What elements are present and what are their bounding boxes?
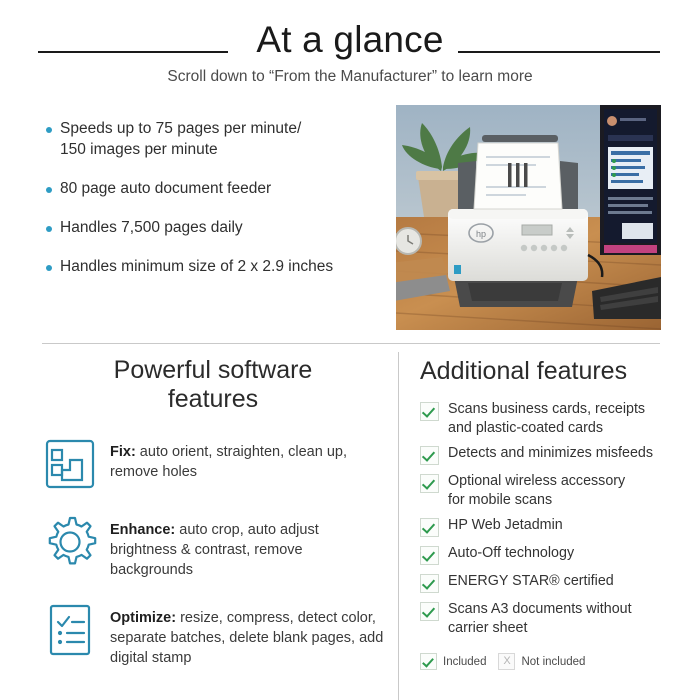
gear-icon [42, 514, 98, 570]
additional-feature-text: HP Web Jetadmin [448, 516, 563, 535]
fix-icon [42, 436, 98, 492]
legend: Included X Not included [420, 653, 685, 670]
check-icon [420, 474, 439, 493]
additional-feature-text: Scans A3 documents without carrier sheet [448, 600, 632, 637]
list-item: Auto-Off technology [420, 544, 685, 565]
check-icon [420, 574, 439, 593]
list-item: Optional wireless accessory for mobile s… [420, 472, 685, 509]
bullet-dot-icon [46, 265, 52, 271]
additional-feature-text: Scans business cards, receipts and plast… [448, 400, 645, 437]
bullet-text: Handles 7,500 pages daily [60, 217, 243, 238]
feature-label: Optimize: [110, 610, 176, 626]
vertical-divider [398, 352, 399, 700]
legend-not-included-label: Not included [521, 656, 585, 668]
bullet-text: Handles minimum size of 2 x 2.9 inches [60, 256, 333, 277]
software-features-title: Powerful software features [38, 356, 388, 414]
product-photo: hp [396, 105, 661, 330]
check-icon [420, 546, 439, 565]
feature-description: auto orient, straighten, clean up, remov… [110, 444, 347, 480]
additional-feature-text: Optional wireless accessory for mobile s… [448, 472, 625, 509]
additional-features-section: Additional features Scans business cards… [420, 356, 685, 670]
check-icon [420, 602, 439, 621]
list-item: HP Web Jetadmin [420, 516, 685, 537]
bullet-dot-icon [46, 226, 52, 232]
horizontal-divider [42, 343, 660, 344]
additional-feature-text: Detects and minimizes misfeeds [448, 444, 653, 463]
legend-included-icon [420, 653, 437, 670]
list-item: 80 page auto document feeder [46, 178, 386, 199]
feature-text: Fix: auto orient, straighten, clean up, … [110, 436, 388, 482]
at-a-glance-bullet-list: Speeds up to 75 pages per minute/ 150 im… [46, 118, 386, 295]
software-features-section: Powerful software features Fix: auto ori… [38, 356, 388, 668]
feature-text: Enhance: auto crop, auto adjust brightne… [110, 514, 388, 580]
checklist-document-icon [42, 602, 98, 658]
list-item: Optimize: resize, compress, detect color… [38, 602, 388, 668]
page-subtitle: Scroll down to “From the Manufacturer” t… [0, 68, 700, 86]
bullet-text: Speeds up to 75 pages per minute/ 150 im… [60, 118, 301, 160]
list-item: Fix: auto orient, straighten, clean up, … [38, 436, 388, 492]
list-item: Scans business cards, receipts and plast… [420, 400, 685, 437]
check-icon [420, 446, 439, 465]
list-item: ENERGY STAR® certified [420, 572, 685, 593]
list-item: Detects and minimizes misfeeds [420, 444, 685, 465]
additional-feature-text: ENERGY STAR® certified [448, 572, 614, 591]
legend-included-label: Included [443, 656, 486, 668]
additional-features-title: Additional features [420, 356, 685, 386]
list-item: Handles 7,500 pages daily [46, 217, 386, 238]
list-item: Speeds up to 75 pages per minute/ 150 im… [46, 118, 386, 160]
additional-feature-text: Auto-Off technology [448, 544, 574, 563]
feature-label: Enhance: [110, 522, 175, 538]
page-title: At a glance [0, 18, 700, 62]
check-icon [420, 518, 439, 537]
list-item: Scans A3 documents without carrier sheet [420, 600, 685, 637]
list-item: Enhance: auto crop, auto adjust brightne… [38, 514, 388, 580]
check-icon [420, 402, 439, 421]
bullet-dot-icon [46, 127, 52, 133]
bullet-dot-icon [46, 187, 52, 193]
list-item: Handles minimum size of 2 x 2.9 inches [46, 256, 386, 277]
svg-text:hp: hp [476, 229, 486, 239]
bullet-text: 80 page auto document feeder [60, 178, 271, 199]
page-header: At a glance Scroll down to “From the Man… [0, 0, 700, 96]
feature-label: Fix: [110, 444, 136, 460]
legend-not-included-icon: X [498, 653, 515, 670]
feature-text: Optimize: resize, compress, detect color… [110, 602, 388, 668]
